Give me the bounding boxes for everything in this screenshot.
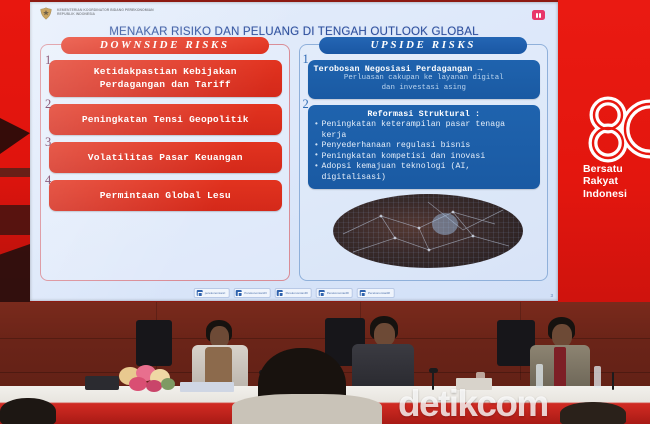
downside-item-box: Permintaan Global Lesu bbox=[49, 180, 282, 211]
social-chip: PerekonomianRI bbox=[233, 288, 270, 298]
anniversary-80-icon bbox=[578, 95, 650, 163]
downside-item-box: Peningkatan Tensi Geopolitik bbox=[49, 104, 282, 135]
downside-item-line: Ketidakpastian Kebijakan bbox=[56, 65, 275, 78]
downside-item-line: Permintaan Global Lesu bbox=[55, 189, 276, 202]
upside-item: 2 Reformasi Struktural : Peningkatan ket… bbox=[308, 105, 541, 189]
garuda-emblem-icon bbox=[38, 6, 54, 22]
item-number: 2 bbox=[45, 98, 51, 111]
social-handle: PerekonomianRI bbox=[286, 291, 308, 295]
social-handle: PerekonomianRI bbox=[244, 291, 266, 295]
upside-bullet: Peningkatan keterampilan pasar tenaga ke… bbox=[314, 120, 535, 141]
downside-item: 3 Volatilitas Pasar Keuangan bbox=[49, 142, 282, 173]
anniversary-caption: Bersatu Rakyat Indonesi bbox=[583, 163, 650, 200]
social-chip: PerekonomianRI bbox=[316, 288, 353, 298]
item-number: 4 bbox=[45, 174, 51, 187]
downside-item-box: Ketidakpastian Kebijakan Perdagangan dan… bbox=[49, 60, 282, 97]
audience-head-left bbox=[0, 398, 56, 424]
laptop bbox=[85, 376, 119, 390]
upside-item-subline: dan investasi asing bbox=[314, 84, 535, 94]
item-number: 2 bbox=[303, 98, 309, 111]
audience-head-right bbox=[560, 402, 626, 424]
downside-item-line: Peningkatan Tensi Geopolitik bbox=[55, 113, 276, 126]
social-handle: perekonomianri bbox=[205, 291, 226, 295]
downside-risks-panel: DOWNSIDE RISKS 1 Ketidakpastian Kebijaka… bbox=[40, 44, 290, 281]
social-chip: perekonomianri bbox=[194, 288, 230, 298]
social-handle: PerekonomianRI bbox=[368, 291, 390, 295]
upside-item-heading: Reformasi Struktural : bbox=[314, 109, 535, 119]
slide-columns: DOWNSIDE RISKS 1 Ketidakpastian Kebijaka… bbox=[40, 44, 548, 281]
social-icon-4 bbox=[318, 290, 324, 296]
nameplate bbox=[180, 382, 234, 392]
social-media-row: perekonomianri PerekonomianRI Perekonomi… bbox=[194, 288, 395, 298]
item-number: 3 bbox=[45, 136, 51, 149]
ministry-name: KEMENTERIAN KOORDINATOR BIDANG PEREKONOM… bbox=[57, 6, 157, 16]
upside-bullet: Penyederhanaan regulasi bisnis bbox=[314, 141, 535, 152]
flower-arrangement bbox=[118, 360, 176, 392]
social-chip: PerekonomianRI bbox=[275, 288, 312, 298]
upside-item-subline: Perluasan cakupan ke layanan digital bbox=[314, 74, 535, 84]
upside-item-box: Terobosan Negosiasi Perdagangan → Perlua… bbox=[308, 60, 541, 99]
detikcom-watermark: detikcom bbox=[398, 385, 548, 422]
social-handle: PerekonomianRI bbox=[327, 291, 349, 295]
microphone bbox=[612, 372, 614, 390]
audience-shoulders bbox=[232, 394, 382, 424]
item-number: 1 bbox=[45, 54, 51, 67]
social-chip: PerekonomianRI bbox=[357, 288, 394, 298]
upside-item-heading: Terobosan Negosiasi Perdagangan → bbox=[314, 64, 535, 74]
upside-bullet: Peningkatan kompetisi dan inovasi bbox=[314, 152, 535, 163]
microphone-head bbox=[429, 368, 438, 373]
social-icon-3 bbox=[277, 290, 283, 296]
projected-slide: KEMENTERIAN KOORDINATOR BIDANG PEREKONOM… bbox=[30, 2, 558, 301]
upside-risks-panel: UPSIDE RISKS bbox=[299, 44, 549, 281]
brand-mark-icon bbox=[532, 10, 545, 20]
press-conference-scene bbox=[0, 302, 650, 424]
upside-items: 1 Terobosan Negosiasi Perdagangan → Perl… bbox=[308, 60, 541, 274]
upside-bullet-list: Peningkatan keterampilan pasar tenaga ke… bbox=[314, 120, 535, 184]
downside-item: 4 Permintaan Global Lesu bbox=[49, 180, 282, 211]
left-wall-shadow-bar bbox=[0, 168, 30, 177]
upside-item: 1 Terobosan Negosiasi Perdagangan → Perl… bbox=[308, 60, 541, 99]
slide-page-number: 3 bbox=[550, 293, 553, 298]
social-icon-1 bbox=[196, 290, 202, 296]
social-icon-2 bbox=[236, 290, 242, 296]
water-bottle bbox=[594, 366, 601, 388]
downside-item: 1 Ketidakpastian Kebijakan Perdagangan d… bbox=[49, 60, 282, 97]
downside-banner: DOWNSIDE RISKS bbox=[61, 37, 269, 54]
downside-item-line: Perdagangan dan Tariff bbox=[56, 78, 275, 91]
downside-item-line: Volatilitas Pasar Keuangan bbox=[55, 151, 276, 164]
downside-item: 2 Peningkatan Tensi Geopolitik bbox=[49, 104, 282, 135]
upside-bullet: Adopsi kemajuan teknologi (AI, digitalis… bbox=[314, 162, 535, 183]
social-icon-5 bbox=[360, 290, 366, 296]
ministry-logo-block: KEMENTERIAN KOORDINATOR BIDANG PEREKONOM… bbox=[38, 6, 157, 22]
left-wall-shadow-b bbox=[0, 205, 30, 235]
item-number: 1 bbox=[303, 53, 309, 66]
screenshot-root: Bersatu Rakyat Indonesi KEMENTERIAN KOOR… bbox=[0, 0, 650, 424]
upside-banner: UPSIDE RISKS bbox=[319, 37, 527, 54]
upside-item-box: Reformasi Struktural : Peningkatan keter… bbox=[308, 105, 541, 189]
downside-item-box: Volatilitas Pasar Keuangan bbox=[49, 142, 282, 173]
downside-items: 1 Ketidakpastian Kebijakan Perdagangan d… bbox=[49, 60, 282, 274]
